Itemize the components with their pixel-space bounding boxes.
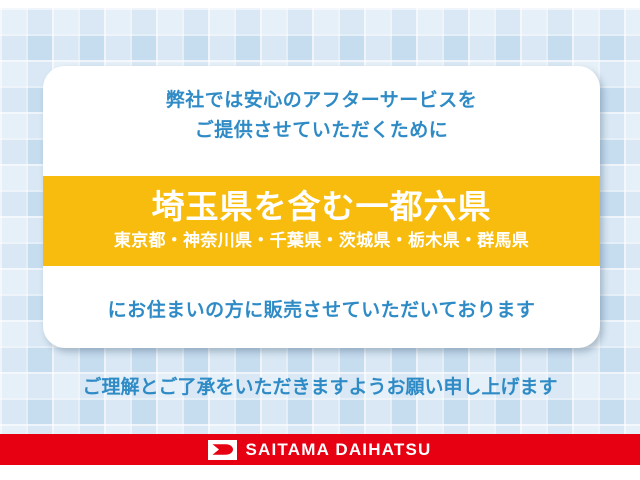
top-white-margin	[0, 0, 640, 8]
bottom-white-margin	[0, 465, 640, 480]
closing-caption: ご理解とご了承をいただきますようお願い申し上げます	[0, 374, 640, 402]
intro-line-2: ご提供させていただくために	[43, 116, 600, 146]
outro-line: にお住まいの方に販売させていただいております	[43, 296, 600, 326]
card-intro-text: 弊社では安心のアフターサービスを ご提供させていただくために	[43, 66, 600, 146]
daihatsu-d-icon	[208, 440, 237, 460]
promo-banner: 弊社では安心のアフターサービスを ご提供させていただくために 埼玉県を含む一都六…	[0, 0, 640, 480]
prefecture-list: 東京都・神奈川県・千葉県・茨城県・栃木県・群馬県	[43, 228, 600, 254]
highlight-band: 埼玉県を含む一都六県 東京都・神奈川県・千葉県・茨城県・栃木県・群馬県	[43, 176, 600, 266]
brand-name-text: SAITAMA DAIHATSU	[245, 440, 431, 460]
brand-footer: SAITAMA DAIHATSU	[0, 434, 640, 465]
card-outro-text: にお住まいの方に販売させていただいております	[43, 296, 600, 348]
highlight-headline: 埼玉県を含む一都六県	[43, 186, 600, 228]
message-card: 弊社では安心のアフターサービスを ご提供させていただくために 埼玉県を含む一都六…	[43, 66, 600, 348]
intro-line-1: 弊社では安心のアフターサービスを	[43, 86, 600, 116]
